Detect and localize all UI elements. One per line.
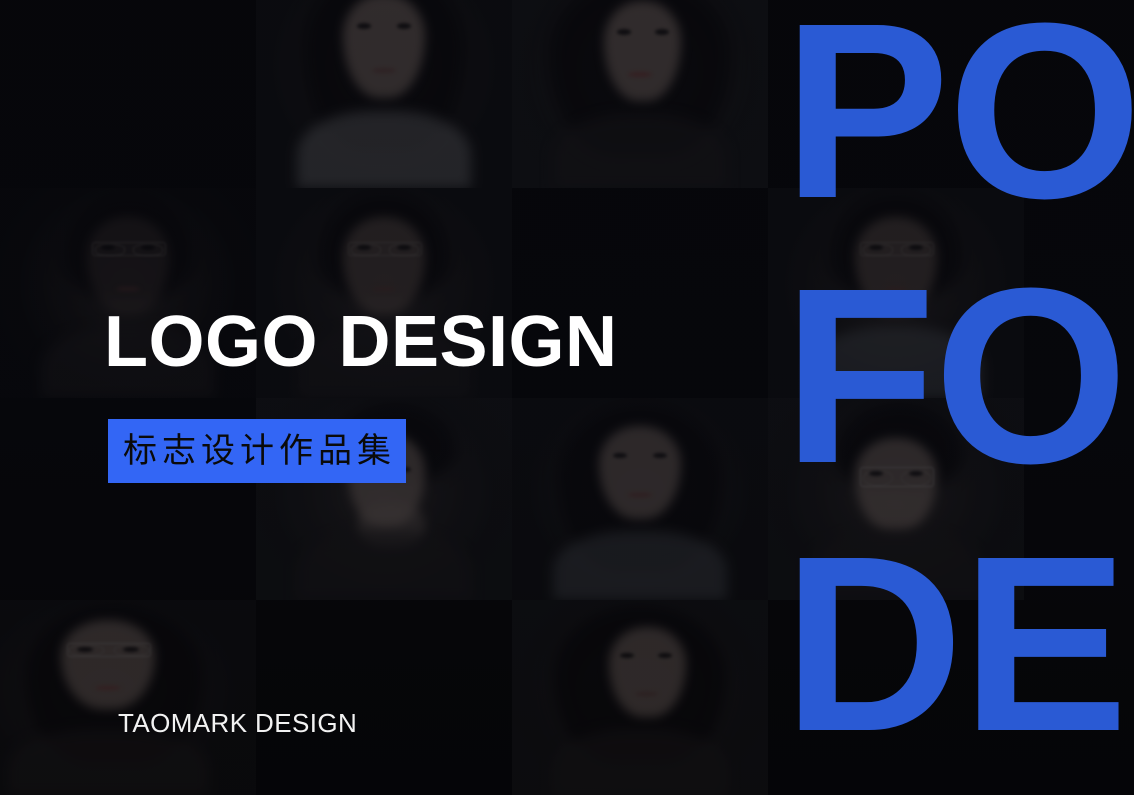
- brand-credit: TAOMARK DESIGN: [118, 708, 357, 739]
- tile-r2c5: [1024, 188, 1134, 398]
- tile-r4c5: [1024, 600, 1134, 795]
- tile-r4c2: [256, 600, 512, 795]
- portrait-mosaic: [0, 0, 1134, 795]
- tile-r4c4: [768, 600, 1024, 795]
- tile-r3c4: [768, 398, 1024, 600]
- portrait-woman-long-hair-portrait: [512, 600, 768, 795]
- tile-r4c1: [0, 600, 256, 795]
- portrait-woman-smiling-dark-top: [512, 0, 768, 188]
- tile-r1c4: [768, 0, 1024, 188]
- tile-r1c3: [512, 0, 768, 188]
- portrait-woman-light-blue-shirt: [512, 398, 768, 600]
- subtitle-badge-label: 标志设计作品集: [118, 434, 396, 468]
- tile-r1c2: [256, 0, 512, 188]
- page-title: LOGO DESIGN: [104, 306, 618, 378]
- tile-r3c5: [1024, 398, 1134, 600]
- portrait-woman-glasses-dark-jacket: [0, 600, 256, 795]
- subtitle-badge: 标志设计作品集: [108, 419, 406, 483]
- portrait-woman-long-hair-white-shirt: [256, 0, 512, 188]
- tile-r3c3: [512, 398, 768, 600]
- poster-canvas: PO FO DE LOGO DESIGN 标志设计作品集 TAOMARK DES…: [0, 0, 1134, 795]
- tile-r1c5: [1024, 0, 1134, 188]
- portrait-man-glasses-collared-shirt: [768, 188, 1024, 398]
- tile-r4c3: [512, 600, 768, 795]
- portrait-person-round-glasses: [768, 398, 1024, 600]
- tile-r1c1: [0, 0, 256, 188]
- tile-r2c4: [768, 188, 1024, 398]
